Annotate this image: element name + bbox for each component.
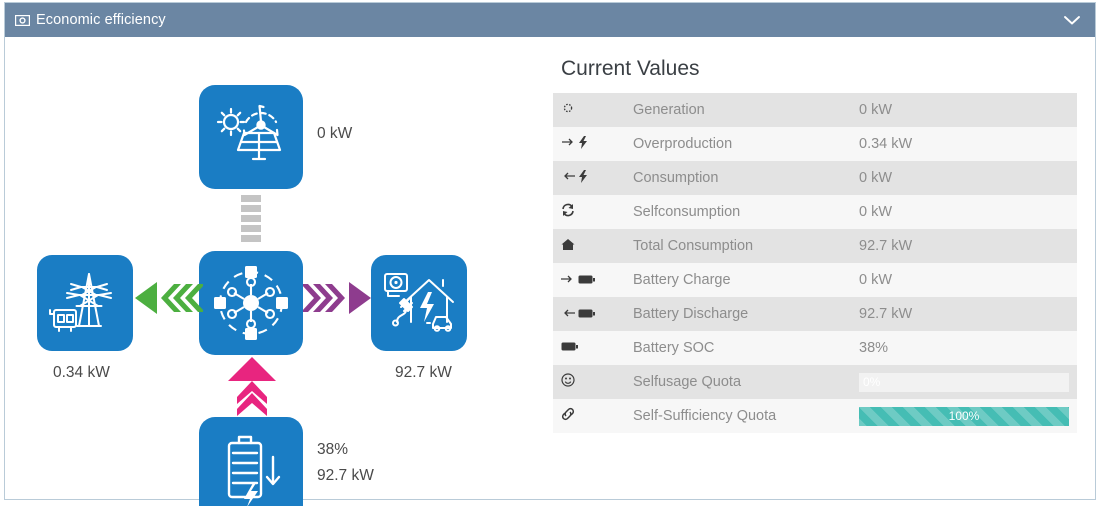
battery-soc-label: 38% [317, 437, 374, 463]
battery-node[interactable] [199, 417, 303, 506]
house-consumption-node[interactable] [371, 255, 467, 351]
row-label: Consumption [625, 161, 851, 195]
house-label: 92.7 kW [395, 364, 452, 382]
arrow-left-chevrons-icon [135, 281, 203, 320]
chevron-down-icon[interactable] [1061, 9, 1083, 31]
panel-title: Economic efficiency [36, 12, 166, 28]
row-value: 38% [851, 331, 1077, 365]
table-row: Self-Sufficiency Quota 100% [553, 399, 1077, 433]
row-label: Overproduction [625, 127, 851, 161]
house-consumption-ev-icon [383, 270, 455, 336]
row-label: Selfconsumption [625, 195, 851, 229]
row-value-bar: 0% [851, 365, 1077, 399]
row-value: 0 kW [851, 263, 1077, 297]
table-row: Consumption 0 kW [553, 161, 1077, 195]
row-value: 0 kW [851, 93, 1077, 127]
row-label: Self-Sufficiency Quota [625, 399, 851, 433]
selfusage-quota-bar: 0% [859, 373, 1069, 392]
row-label: Selfusage Quota [625, 365, 851, 399]
current-values-table: Generation 0 kW Overproduction [553, 93, 1077, 433]
panel-header: Economic efficiency [5, 3, 1095, 37]
row-label: Battery SOC [625, 331, 851, 365]
row-value: 0 kW [851, 161, 1077, 195]
battery-power-label: 92.7 kW [317, 463, 374, 489]
current-values-section: Current Values Generation 0 kW [545, 37, 1095, 499]
arrow-up-chevrons-icon [223, 357, 281, 424]
table-row: Overproduction 0.34 kW [553, 127, 1077, 161]
row-label: Battery Charge [625, 263, 851, 297]
table-row: Selfconsumption 0 kW [553, 195, 1077, 229]
panel: Economic efficiency [4, 2, 1096, 500]
energy-hub-icon [212, 264, 290, 342]
refresh-cycle-icon [553, 195, 625, 229]
energy-flow-diagram: 0 kW [5, 37, 545, 499]
table-row: Battery Discharge 92.7 kW [553, 297, 1077, 331]
battery-labels: 38% 92.7 kW [317, 437, 374, 489]
table-row: Total Consumption 92.7 kW [553, 229, 1077, 263]
arrow-left-battery-icon [553, 297, 625, 331]
arrow-right-battery-icon [553, 263, 625, 297]
chain-link-icon [553, 399, 625, 433]
arrow-right-bolt-icon [553, 127, 625, 161]
money-bill-icon [15, 15, 30, 26]
solar-wind-generation-icon [214, 102, 288, 172]
row-value: 0 kW [851, 195, 1077, 229]
row-label: Total Consumption [625, 229, 851, 263]
table-row: Battery Charge 0 kW [553, 263, 1077, 297]
smiley-icon [553, 365, 625, 399]
generation-label: 0 kW [317, 125, 352, 143]
dashed-link-inactive-icon [241, 195, 261, 245]
bar-label: 0% [859, 373, 1069, 392]
panel-body: 0 kW [5, 37, 1095, 499]
home-icon [553, 229, 625, 263]
current-values-title: Current Values [561, 57, 1077, 81]
table-row: Selfusage Quota 0% [553, 365, 1077, 399]
energy-hub-node[interactable] [199, 251, 303, 355]
economic-efficiency-widget: Economic efficiency [0, 0, 1100, 506]
generation-node[interactable] [199, 85, 303, 189]
sun-icon [553, 93, 625, 127]
table-row: Battery SOC 38% [553, 331, 1077, 365]
bar-label: 100% [859, 407, 1069, 426]
row-label: Battery Discharge [625, 297, 851, 331]
row-value: 92.7 kW [851, 297, 1077, 331]
power-grid-tower-icon [49, 268, 121, 338]
row-value: 92.7 kW [851, 229, 1077, 263]
arrow-right-chevrons-icon [303, 281, 371, 320]
power-grid-node[interactable] [37, 255, 133, 351]
grid-label: 0.34 kW [53, 364, 110, 382]
row-label: Generation [625, 93, 851, 127]
row-value-bar: 100% [851, 399, 1077, 433]
self-sufficiency-quota-bar: 100% [859, 407, 1069, 426]
table-row: Generation 0 kW [553, 93, 1077, 127]
battery-discharge-icon [213, 431, 289, 506]
row-value: 0.34 kW [851, 127, 1077, 161]
battery-icon [553, 331, 625, 365]
arrow-left-bolt-icon [553, 161, 625, 195]
